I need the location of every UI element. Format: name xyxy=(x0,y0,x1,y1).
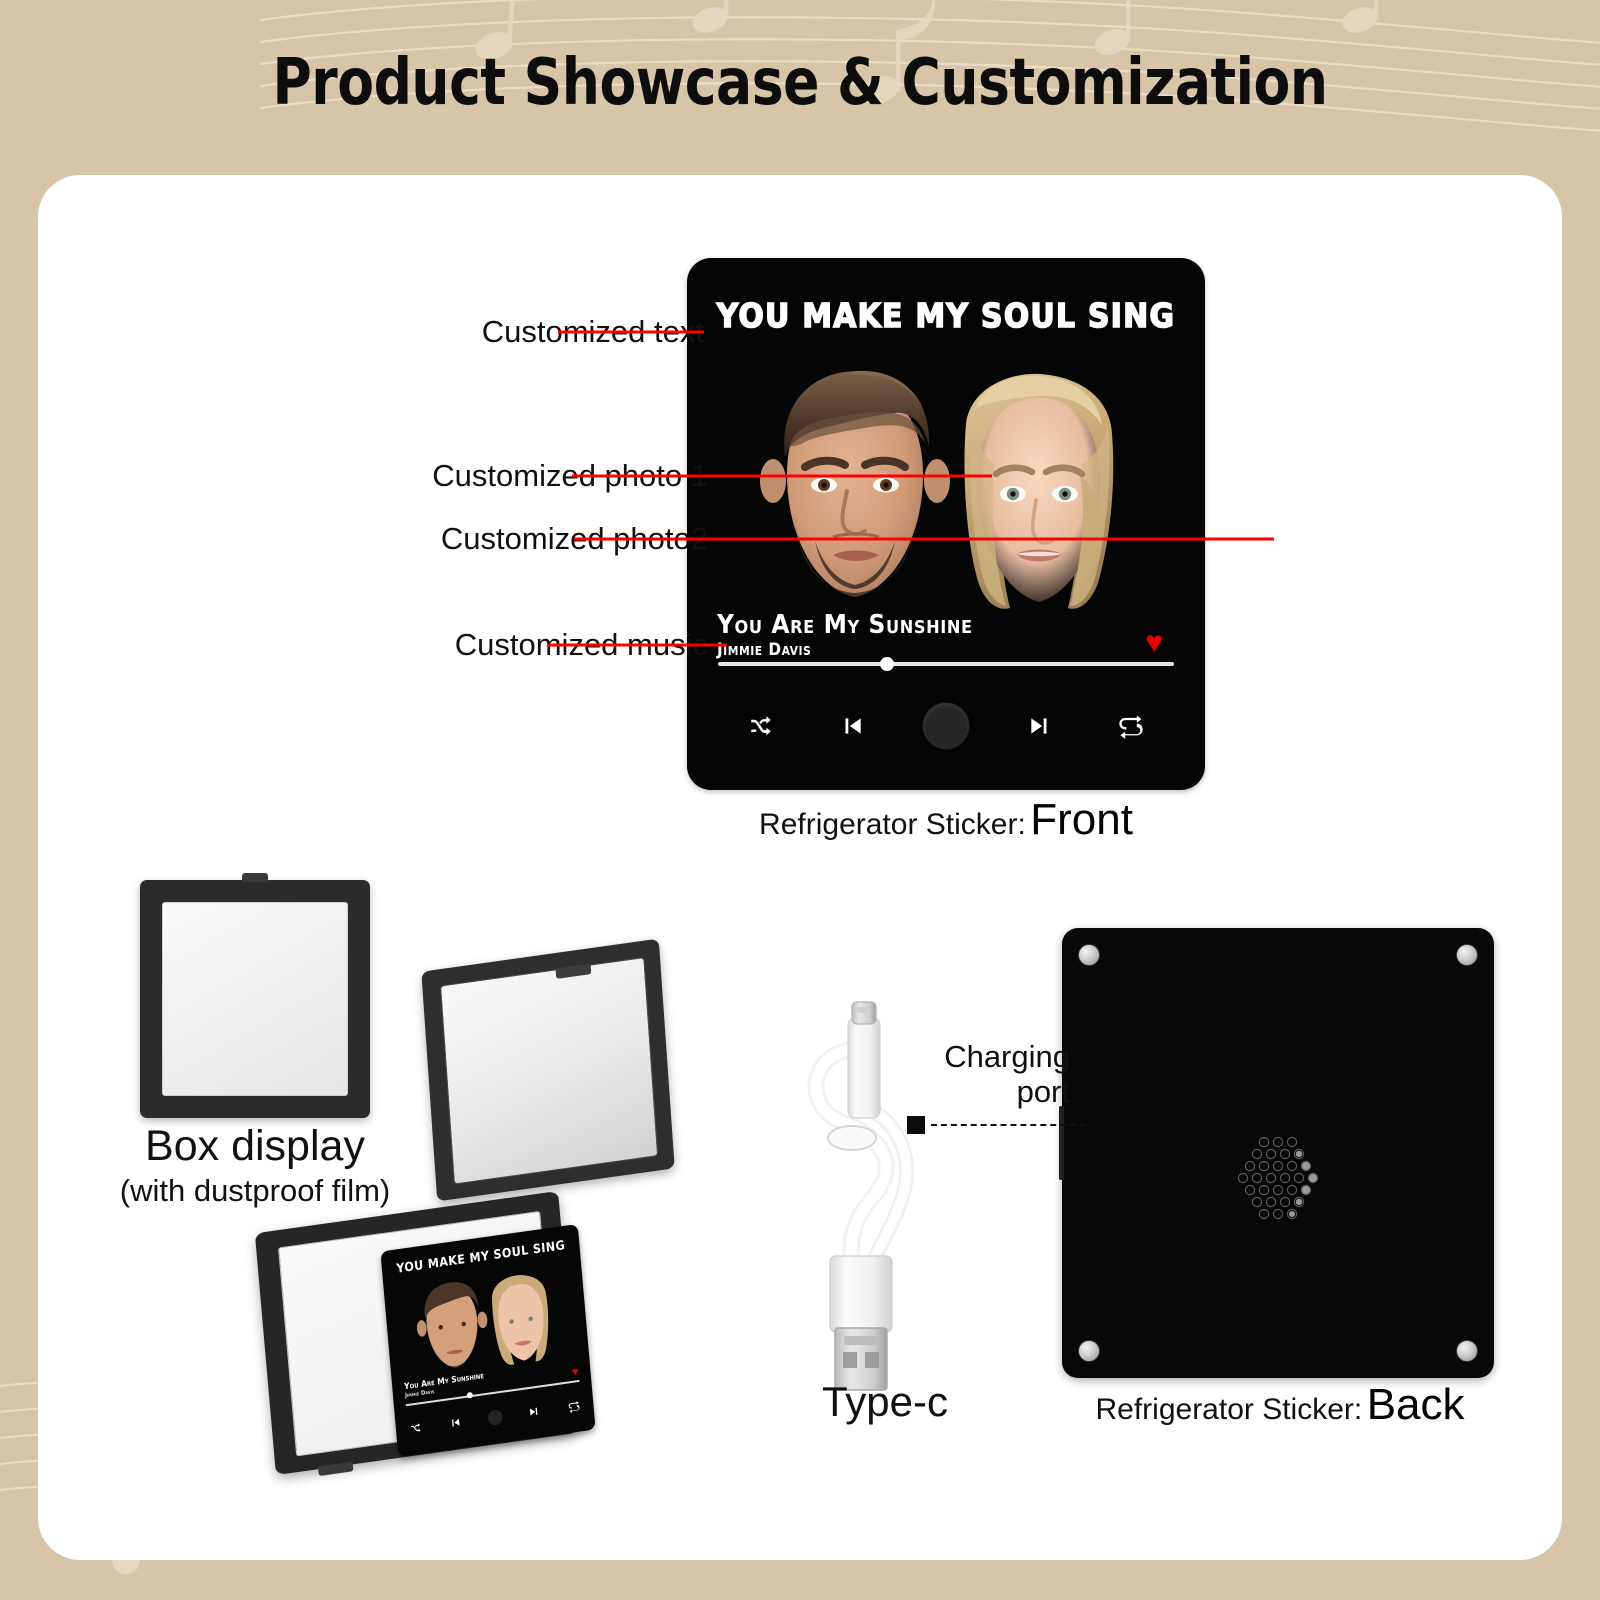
mini-progress-handle xyxy=(467,1392,473,1399)
customized-photo-2 xyxy=(940,368,1138,620)
magnet-top-left xyxy=(1078,944,1100,966)
caption-back-prefix: Refrigerator Sticker: xyxy=(1095,1393,1362,1426)
leader-line-text xyxy=(558,331,704,334)
mini-previous-icon xyxy=(447,1414,463,1431)
caption-back: Refrigerator Sticker: Back xyxy=(1050,1380,1510,1430)
speaker-grille-icon xyxy=(1230,1132,1326,1228)
caption-front-prefix: Refrigerator Sticker: xyxy=(759,808,1026,841)
previous-icon[interactable] xyxy=(831,705,873,747)
magnet-top-right xyxy=(1456,944,1478,966)
transport-controls xyxy=(718,690,1174,762)
callout-customized-photo2: Customized photo2 xyxy=(312,519,708,559)
repeat-icon[interactable] xyxy=(1110,705,1152,747)
mini-next-icon xyxy=(526,1403,542,1420)
charging-port-label-line1: Charging xyxy=(905,1040,1070,1075)
next-icon[interactable] xyxy=(1019,705,1061,747)
shuffle-icon[interactable] xyxy=(740,705,782,747)
caption-type-c: Type-c xyxy=(760,1378,1010,1426)
caption-box-line2: (with dustproof film) xyxy=(110,1173,400,1209)
play-button[interactable] xyxy=(922,702,970,750)
heart-icon[interactable]: ♥ xyxy=(1145,628,1163,658)
callout-customized-music: Customized music xyxy=(318,625,708,665)
song-artist: Jimmie Davis xyxy=(717,640,811,660)
charging-port-dashed-leader xyxy=(931,1124,1086,1126)
caption-box-display: Box display (with dustproof film) xyxy=(110,1122,400,1209)
caption-type-c-label: Type-c xyxy=(822,1378,948,1425)
base-tab xyxy=(318,1462,353,1476)
leader-line-photo2 xyxy=(574,538,1274,541)
callout-charging-port: Charging port xyxy=(905,1040,1080,1109)
product-front-panel-in-box: YOU MAKE MY SOUL SING You Are My Sunshin… xyxy=(380,1224,595,1457)
page-title: Product Showcase & Customization xyxy=(56,46,1544,120)
mini-customized-photo-2 xyxy=(481,1268,562,1372)
caption-front: Refrigerator Sticker: Front xyxy=(687,795,1205,845)
mini-shuffle-icon xyxy=(407,1420,423,1437)
lid-dustproof-film xyxy=(440,957,658,1185)
caption-back-emphasis: Back xyxy=(1367,1380,1465,1429)
charging-port-label-line2: port xyxy=(905,1075,1070,1110)
song-title: You Are My Sunshine xyxy=(717,610,973,640)
custom-text-headline: YOU MAKE MY SOUL SING xyxy=(687,296,1205,335)
mini-play-button xyxy=(487,1409,503,1426)
caption-box-line1: Box display xyxy=(110,1122,400,1171)
leader-line-photo1 xyxy=(572,475,992,478)
product-front-panel[interactable]: YOU MAKE MY SOUL SING xyxy=(687,258,1205,790)
magnet-bottom-right xyxy=(1456,1340,1478,1362)
callout-customized-text: Customized text xyxy=(344,312,704,352)
product-back-panel[interactable] xyxy=(1062,928,1494,1378)
box-tab xyxy=(242,873,268,882)
callout-customized-photo1: Customized photo 1 xyxy=(320,456,708,496)
progress-bar[interactable] xyxy=(718,662,1174,666)
customized-photo-1 xyxy=(755,351,955,609)
magnet-bottom-left xyxy=(1078,1340,1100,1362)
box-lid xyxy=(421,939,674,1202)
charging-port-notch xyxy=(1059,1106,1064,1180)
mini-repeat-icon xyxy=(566,1397,582,1414)
leader-line-music xyxy=(547,644,727,647)
caption-front-emphasis: Front xyxy=(1030,795,1133,844)
charging-port-marker xyxy=(907,1116,925,1134)
progress-handle[interactable] xyxy=(880,657,894,671)
mini-heart-icon: ♥ xyxy=(572,1366,579,1379)
